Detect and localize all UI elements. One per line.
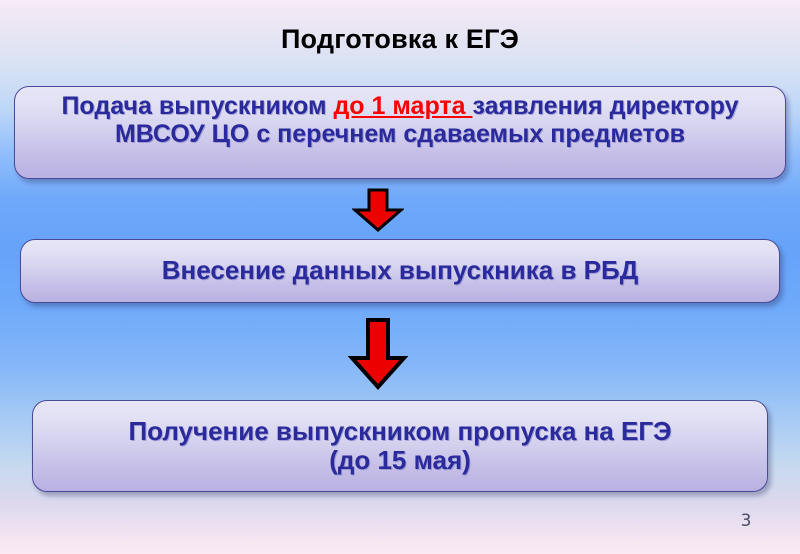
flow-step-application[interactable]: Подача выпускником до 1 марта заявления … [14,86,786,179]
flow-step-rbd-text: Внесение данных выпускника в РБД [21,256,779,285]
flow-step-application-text: Подача выпускником до 1 марта заявления … [15,87,785,148]
page-title: Подготовка к ЕГЭ [0,24,800,55]
step1-deadline-highlight: до 1 марта [333,92,472,120]
step3-line1: Получение выпускником пропуска на ЕГЭ [128,416,671,446]
flow-step-rbd[interactable]: Внесение данных выпускника в РБД [20,239,780,303]
slide-canvas: Подготовка к ЕГЭ Подача выпускником до 1… [0,0,800,554]
down-arrow-icon [348,318,408,395]
flow-step-pass-text: Получение выпускником пропуска на ЕГЭ (д… [33,417,767,475]
step1-text-before: Подача выпускником [61,92,333,120]
step3-line2: (до 15 мая) [329,445,471,475]
page-number: 3 [726,511,766,531]
flow-step-pass[interactable]: Получение выпускником пропуска на ЕГЭ (д… [32,400,768,492]
down-arrow-icon [352,188,404,237]
